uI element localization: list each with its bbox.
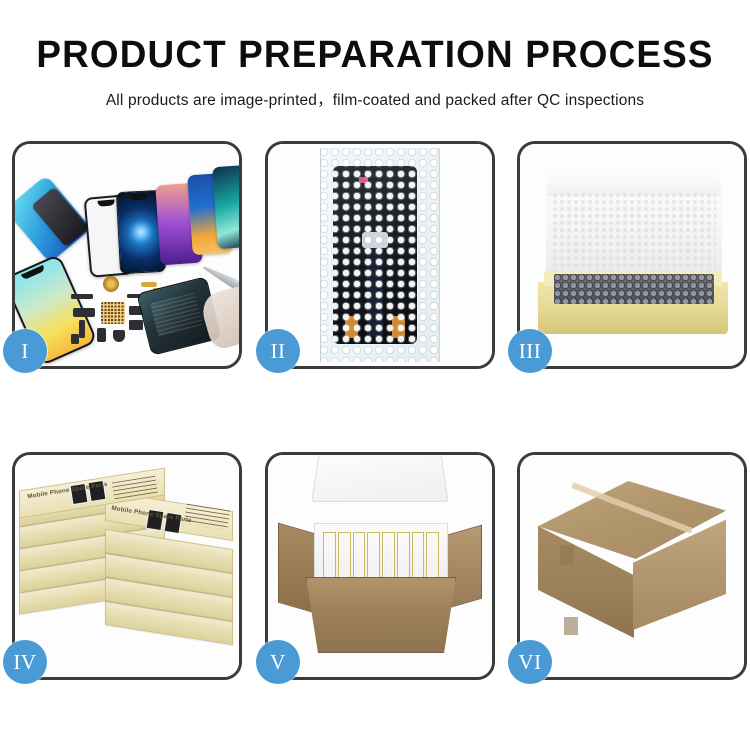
step-2-image (268, 144, 492, 366)
notch-icon (21, 265, 46, 280)
part-camera-module (73, 308, 95, 317)
step-5-image (268, 455, 492, 677)
step-panel-4[interactable]: Mobile Phone Spare Parts Mobile Phone Sp… (12, 452, 242, 680)
yellow-box-row (367, 532, 380, 580)
foam-case-lid (311, 455, 448, 502)
step-3-image (520, 144, 744, 366)
step-badge-1: I (3, 329, 47, 373)
phone-screen-teal (212, 165, 239, 249)
part-gold-flex (141, 282, 157, 287)
carton-body (306, 577, 456, 653)
part-vibration-coil (103, 276, 119, 292)
shipping-carton-open (284, 479, 476, 653)
step-badge-2: II (256, 329, 300, 373)
part-speaker-mesh (71, 294, 93, 299)
step-4-image: Mobile Phone Spare Parts Mobile Phone Sp… (15, 455, 239, 677)
process-grid: I II (0, 134, 750, 690)
box-stack: Mobile Phone Spare Parts Mobile Phone Sp… (19, 475, 231, 660)
step-badge-4: IV (3, 640, 47, 684)
step-panel-5[interactable]: V (265, 452, 495, 680)
carton-tape-patch-bottom (564, 617, 578, 635)
bubble-texture (320, 148, 440, 362)
bubble-wrap-bag (320, 148, 440, 362)
bubble-wrapped-contents (554, 274, 714, 304)
header: PRODUCT PREPARATION PROCESS All products… (0, 0, 750, 110)
foam-texture (552, 192, 716, 280)
step-badge-3: III (508, 329, 552, 373)
carton-tape-patch-top (560, 545, 574, 565)
step-panel-1[interactable]: I (12, 141, 242, 369)
step-panel-6[interactable]: VI (517, 452, 747, 680)
part-speaker-box (113, 330, 125, 342)
foam-lid (546, 162, 722, 284)
part-sim-tray (97, 328, 106, 342)
step-panel-2[interactable]: II (265, 141, 495, 369)
inner-box-open (538, 162, 728, 340)
yellow-box-row (323, 532, 336, 580)
part-flex-strip (79, 320, 85, 338)
yellow-box-row (397, 532, 410, 580)
sealed-carton (534, 481, 730, 649)
part-chip-black (129, 320, 143, 330)
step-badge-6: VI (508, 640, 552, 684)
page-title: PRODUCT PREPARATION PROCESS (11, 0, 739, 74)
yellow-box-row (353, 532, 366, 580)
poster-root: PRODUCT PREPARATION PROCESS All products… (0, 0, 750, 750)
step-1-image (15, 144, 239, 366)
page-subtitle: All products are image-printed，film-coat… (0, 74, 750, 110)
jellyfish-wallpaper-icon (127, 218, 154, 245)
part-connector-grid (101, 302, 125, 324)
yellow-box-row (382, 532, 395, 580)
notch-icon (130, 194, 149, 201)
yellow-box-row (412, 532, 425, 580)
packed-yellow-boxes (323, 532, 439, 580)
yellow-box-tray (538, 282, 728, 334)
step-6-image (520, 455, 744, 677)
step-panel-3[interactable]: III (517, 141, 747, 369)
yellow-box-row (426, 532, 439, 580)
step-badge-5: V (256, 640, 300, 684)
yellow-box-row (338, 532, 351, 580)
notch-icon (97, 199, 114, 206)
part-button-flex (71, 334, 79, 344)
